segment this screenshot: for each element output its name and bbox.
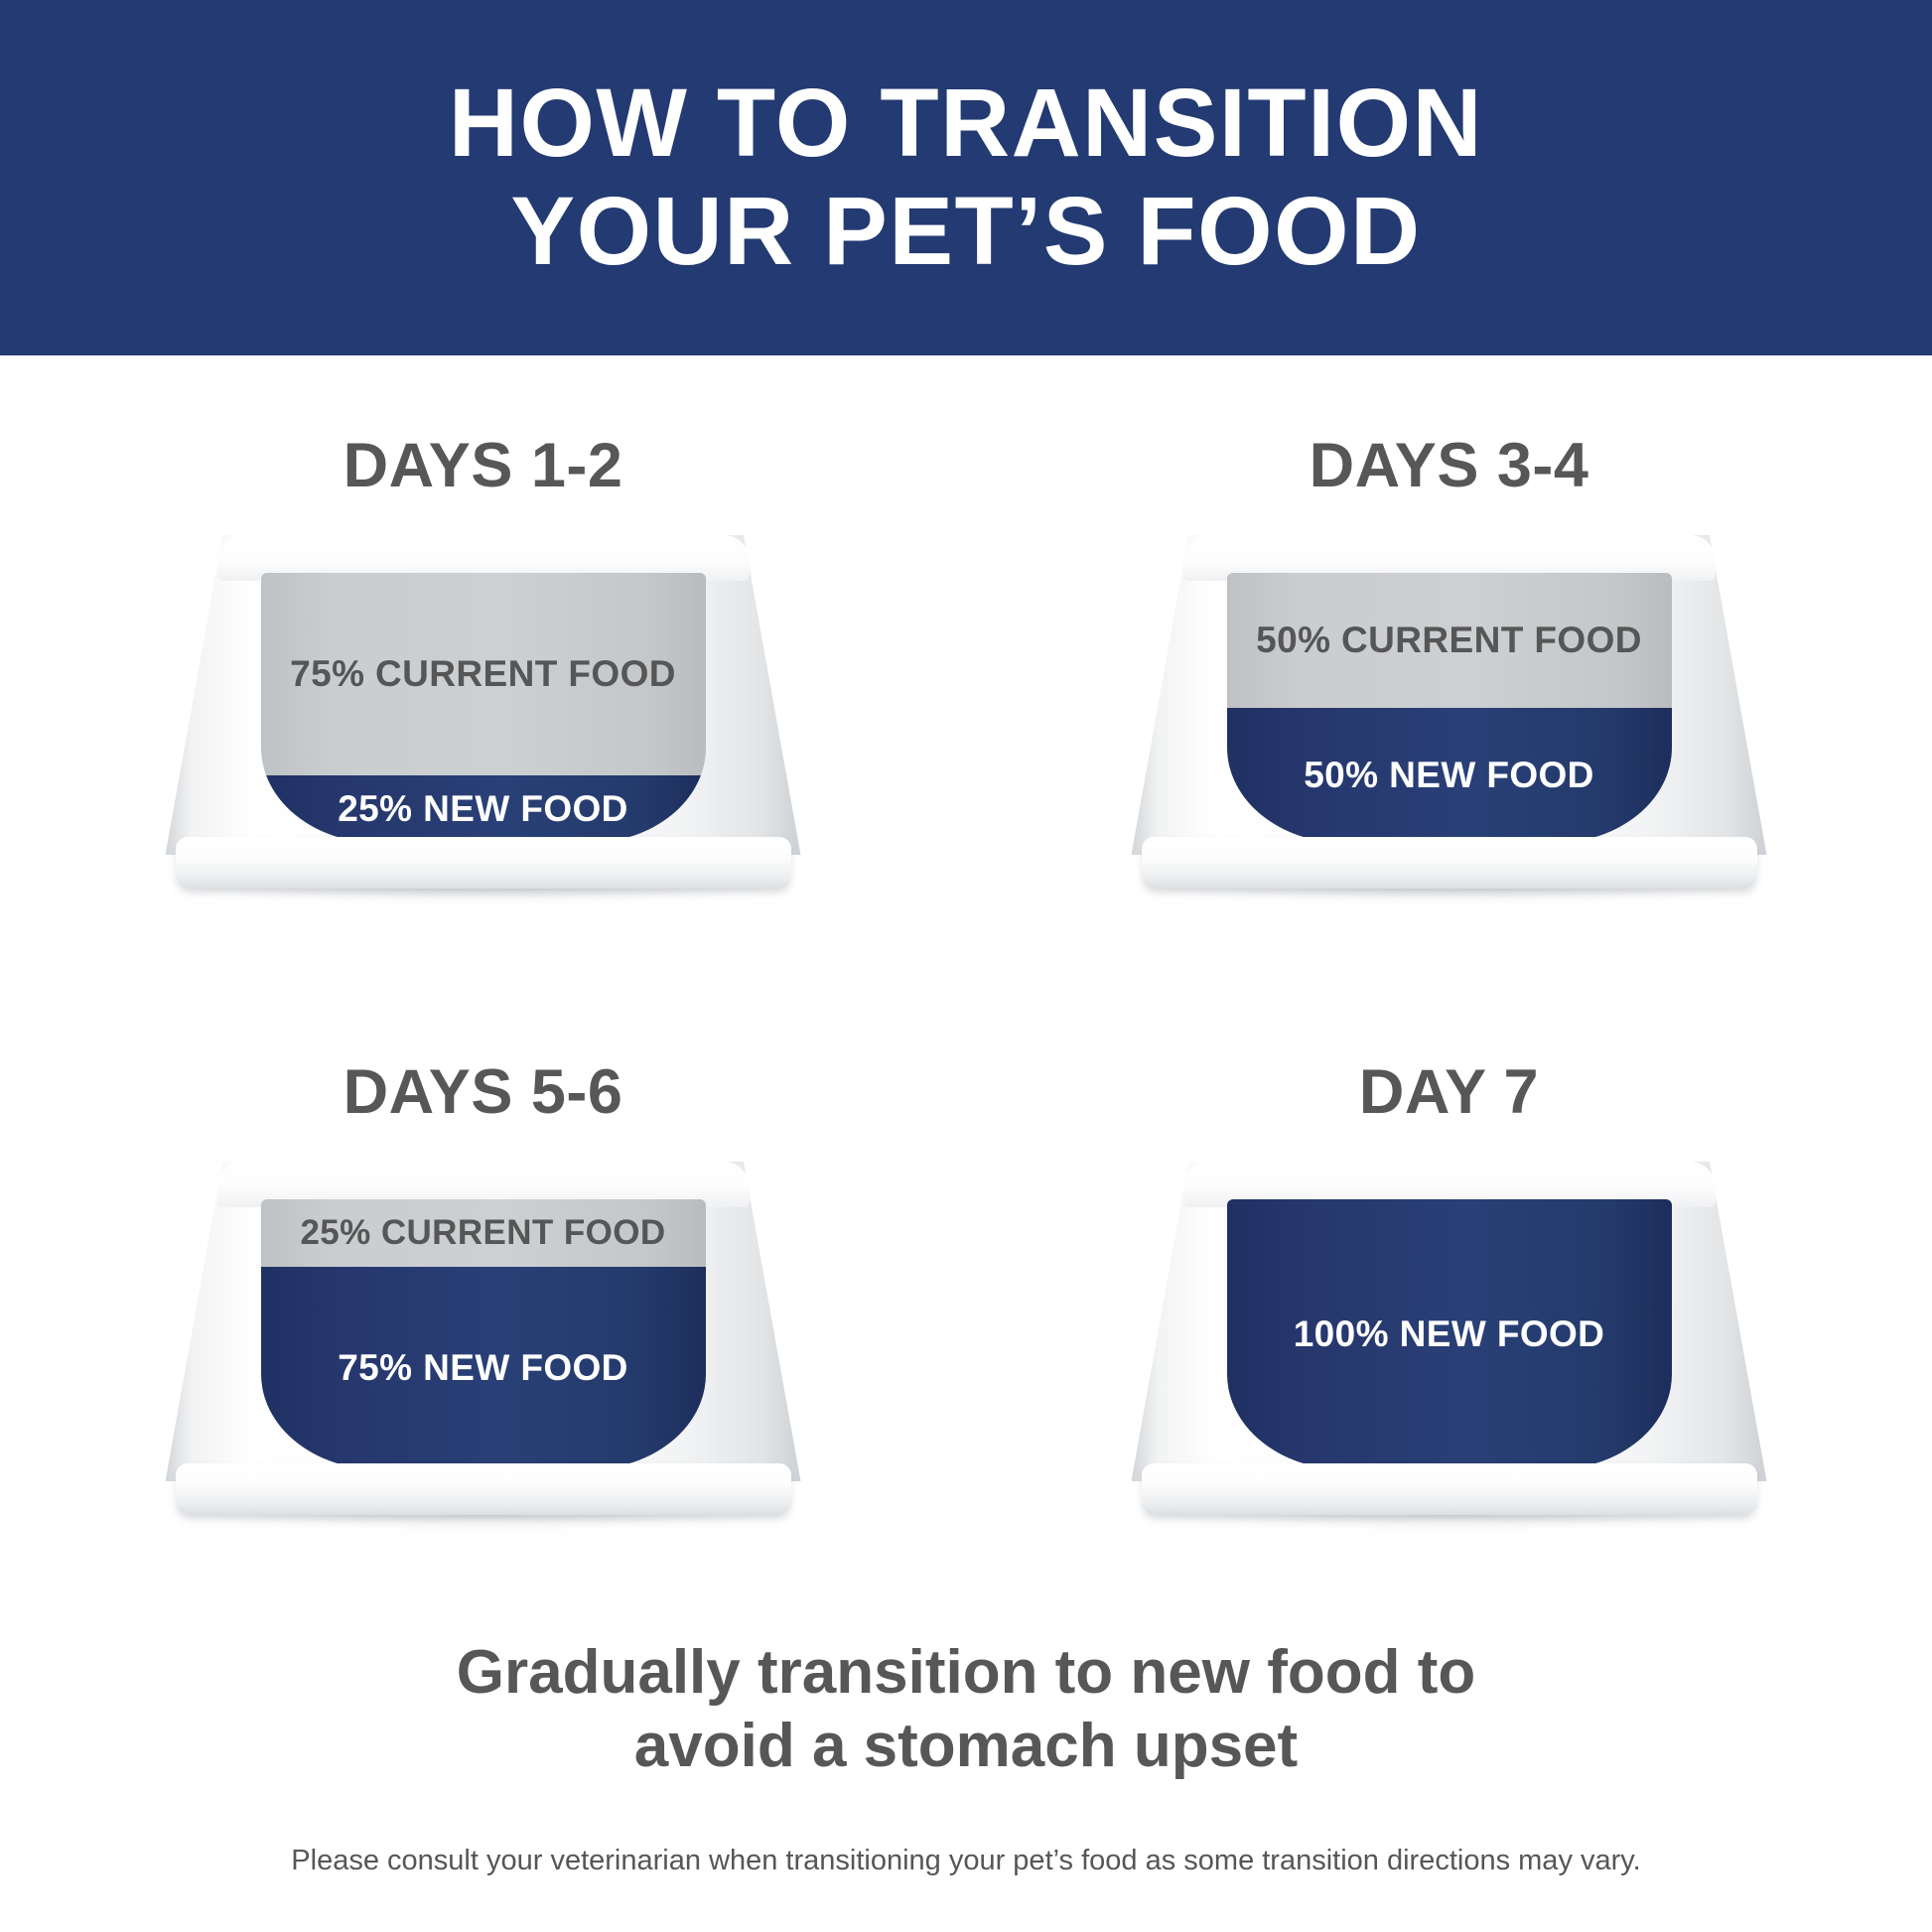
step-heading-days-1-2: DAYS 1-2 [344,435,623,497]
bowl-base [1142,1463,1757,1515]
new-food-label: 25% NEW FOOD [328,787,638,831]
current-food-portion: 25% CURRENT FOOD [261,1199,706,1267]
page-title-line-2: YOUR PET’S FOOD [510,178,1421,286]
page-title-line-1: HOW TO TRANSITION [449,69,1483,178]
new-food-portion: 50% NEW FOOD [1227,708,1672,843]
footer-tagline-line-2: avoid a stomach upset [0,1710,1932,1783]
header-banner: HOW TO TRANSITION YOUR PET’S FOOD [0,0,1932,355]
bowl-base [176,1463,791,1515]
new-food-portion: 25% NEW FOOD [261,775,706,843]
transition-step-days-5-6: DAYS 5-6 25% CURRENT FOOD 75% NEW FOOD [0,982,966,1608]
new-food-portion: 75% NEW FOOD [261,1267,706,1469]
food-well: 50% CURRENT FOOD 50% NEW FOOD [1227,573,1672,843]
current-food-label: 25% CURRENT FOOD [290,1212,675,1253]
food-bowl-day-7: 100% NEW FOOD [1132,1162,1767,1529]
new-food-label: 100% NEW FOOD [1284,1312,1615,1356]
current-food-label: 50% CURRENT FOOD [1246,619,1652,662]
transition-step-day-7: DAY 7 100% NEW FOOD [966,982,1932,1608]
food-bowl-days-1-2: 75% CURRENT FOOD 25% NEW FOOD [166,535,801,902]
transition-steps-grid: DAYS 1-2 75% CURRENT FOOD 25% NEW FOOD D… [0,355,1932,1608]
transition-step-days-1-2: DAYS 1-2 75% CURRENT FOOD 25% NEW FOOD [0,355,966,982]
current-food-label: 75% CURRENT FOOD [280,652,686,696]
food-well: 75% CURRENT FOOD 25% NEW FOOD [261,573,706,843]
food-bowl-days-3-4: 50% CURRENT FOOD 50% NEW FOOD [1132,535,1767,902]
food-well: 100% NEW FOOD [1227,1199,1672,1469]
footer-tagline: Gradually transition to new food to avoi… [0,1636,1932,1784]
step-heading-days-5-6: DAYS 5-6 [344,1061,623,1124]
food-well: 25% CURRENT FOOD 75% NEW FOOD [261,1199,706,1469]
transition-step-days-3-4: DAYS 3-4 50% CURRENT FOOD 50% NEW FOOD [966,355,1932,982]
step-heading-day-7: DAY 7 [1359,1061,1539,1124]
footer-disclaimer: Please consult your veterinarian when tr… [0,1843,1932,1880]
new-food-label: 75% NEW FOOD [328,1346,638,1390]
bowl-base [176,837,791,889]
current-food-portion: 75% CURRENT FOOD [261,573,706,775]
new-food-portion: 100% NEW FOOD [1227,1199,1672,1469]
food-bowl-days-5-6: 25% CURRENT FOOD 75% NEW FOOD [166,1162,801,1529]
step-heading-days-3-4: DAYS 3-4 [1310,435,1589,497]
bowl-base [1142,837,1757,889]
current-food-portion: 50% CURRENT FOOD [1227,573,1672,708]
footer-tagline-line-1: Gradually transition to new food to [0,1636,1932,1710]
new-food-label: 50% NEW FOOD [1294,754,1604,797]
